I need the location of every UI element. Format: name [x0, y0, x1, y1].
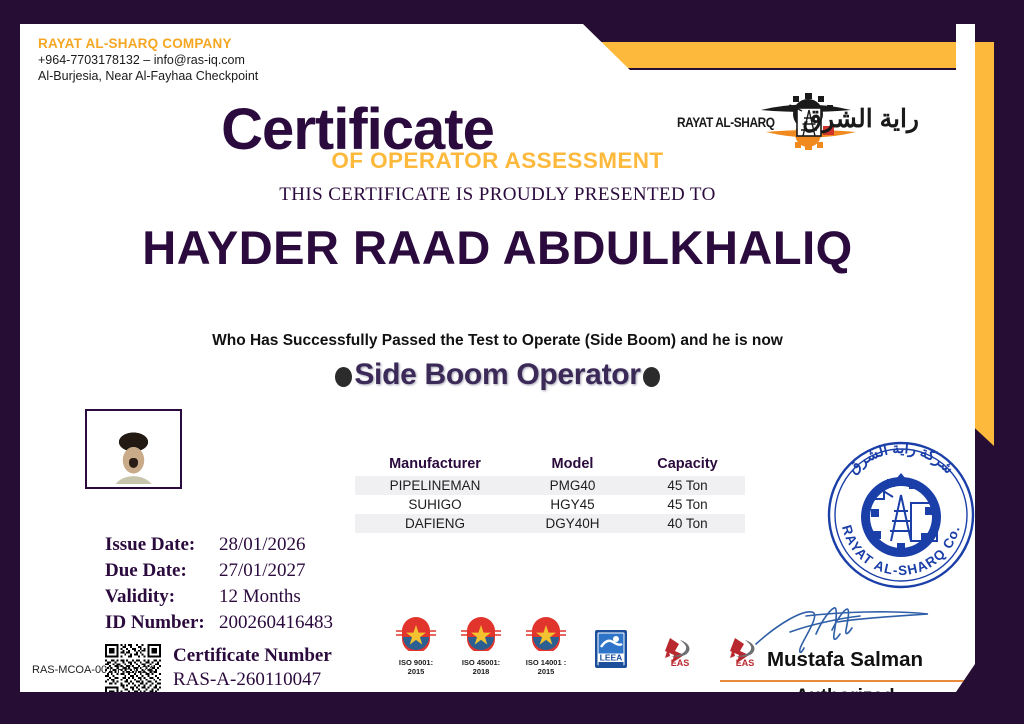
leea-badge-icon: LEEA — [594, 629, 628, 669]
role-title: Side Boom Operator — [20, 358, 975, 392]
detail-value: 27/01/2027 — [219, 560, 306, 582]
column-header-capacity: Capacity — [630, 454, 745, 476]
detail-label: Due Date: — [105, 560, 219, 582]
cell-capacity: 45 Ton — [630, 476, 745, 495]
company-address: Al-Burjesia, Near Al-Fayhaa Checkpoint — [38, 69, 258, 83]
iso-star-badge-icon — [526, 617, 566, 651]
status-badge: شركة راية الشرق RAYAT AL-SHARQ Co. — [815, 429, 975, 601]
page-subtitle: OF OPERATOR ASSESSMENT — [20, 148, 975, 174]
cell-manufacturer: SUHIGO — [355, 495, 515, 514]
detail-value: 28/01/2026 — [219, 534, 306, 556]
table-row: PIPELINEMAN PMG40 45 Ton — [355, 476, 745, 495]
badge-iso-14001: ISO 14001 : 2015 — [520, 617, 572, 676]
signer-title: Authorized Trainer/Assessor — [720, 686, 970, 692]
cell-manufacturer: PIPELINEMAN — [355, 476, 515, 495]
badge-caption: ISO 9001: 2015 — [390, 658, 442, 676]
cell-capacity: 45 Ton — [630, 495, 745, 514]
detail-label: Validity: — [105, 586, 219, 608]
badge-eas-1: EAS — [650, 635, 702, 676]
cell-model: DGY40H — [515, 514, 630, 533]
detail-row-issue-date: Issue Date: 28/01/2026 — [105, 534, 333, 560]
badge-iso-9001: ISO 9001: 2015 — [390, 617, 442, 676]
svg-text:LEEA: LEEA — [600, 653, 623, 663]
accreditation-badges: ISO 9001: 2015 ISO 45001: 2018 — [390, 617, 767, 676]
cell-model: HGY45 — [515, 495, 630, 514]
avatar — [85, 409, 182, 489]
badge-iso-45001: ISO 45001: 2018 — [455, 617, 507, 676]
bullet-left-icon — [335, 367, 352, 387]
certificate-number-value: RAS-A-260110047 — [173, 668, 332, 692]
detail-label: Issue Date: — [105, 534, 219, 556]
signer-name: Mustafa Salman — [720, 648, 970, 672]
signature-rule — [720, 680, 970, 682]
certificate-number: Certificate Number RAS-A-260110047 — [173, 644, 332, 692]
detail-label: ID Number: — [105, 612, 219, 634]
certificate-number-label: Certificate Number — [173, 644, 332, 668]
svg-text:EAS: EAS — [671, 658, 690, 668]
eas-badge-icon: EAS — [656, 635, 696, 669]
assessment-statement: Who Has Successfully Passed the Test to … — [20, 332, 975, 350]
recipient-name: HAYDER RAAD ABDULKHALIQ — [20, 220, 975, 275]
company-info-block: RAYAT AL-SHARQ COMPANY +964-7703178132 –… — [38, 36, 258, 83]
cell-capacity: 40 Ton — [630, 514, 745, 533]
table-row: SUHIGO HGY45 45 Ton — [355, 495, 745, 514]
table-row: DAFIENG DGY40H 40 Ton — [355, 514, 745, 533]
certificate-card: RAYAT AL-SHARQ COMPANY +964-7703178132 –… — [20, 24, 975, 692]
table-header-row: Manufacturer Model Capacity — [355, 454, 745, 476]
iso-star-badge-icon — [396, 617, 436, 651]
svg-text:شركة راية الشرق: شركة راية الشرق — [845, 441, 956, 477]
handwritten-signature-icon — [750, 602, 940, 654]
iso-star-badge-icon — [461, 617, 501, 651]
badge-leea: LEEA — [585, 629, 637, 676]
certificate-page: RAYAT AL-SHARQ COMPANY +964-7703178132 –… — [0, 0, 1024, 724]
cell-manufacturer: DAFIENG — [355, 514, 515, 533]
revision-code: RAS-MCOA-001-REV.24 — [32, 664, 154, 676]
bullet-right-icon — [643, 367, 660, 387]
column-header-model: Model — [515, 454, 630, 476]
equipment-table: Manufacturer Model Capacity PIPELINEMAN … — [355, 454, 745, 533]
cell-model: PMG40 — [515, 476, 630, 495]
badge-caption: ISO 14001 : 2015 — [520, 658, 572, 676]
company-name: RAYAT AL-SHARQ COMPANY — [38, 36, 258, 51]
detail-value: 12 Months — [219, 586, 301, 608]
badge-caption: ISO 45001: 2018 — [455, 658, 507, 676]
detail-row-id-number: ID Number: 200260416483 — [105, 612, 333, 638]
stamp-arabic-text: شركة راية الشرق — [845, 441, 956, 477]
role-label: Side Boom Operator — [354, 358, 640, 391]
detail-row-due-date: Due Date: 27/01/2027 — [105, 560, 333, 586]
company-contact: +964-7703178132 – info@ras-iq.com — [38, 53, 258, 67]
portrait-image — [90, 414, 177, 484]
detail-value: 200260416483 — [219, 612, 333, 634]
presented-line: THIS CERTIFICATE IS PROUDLY PRESENTED TO — [20, 184, 975, 206]
column-header-manufacturer: Manufacturer — [355, 454, 515, 476]
certificate-details: Issue Date: 28/01/2026 Due Date: 27/01/2… — [105, 534, 333, 638]
corner-dark-wedge — [560, 0, 1024, 46]
company-round-stamp-icon: شركة راية الشرق RAYAT AL-SHARQ Co. — [815, 429, 975, 601]
detail-row-validity: Validity: 12 Months — [105, 586, 333, 612]
